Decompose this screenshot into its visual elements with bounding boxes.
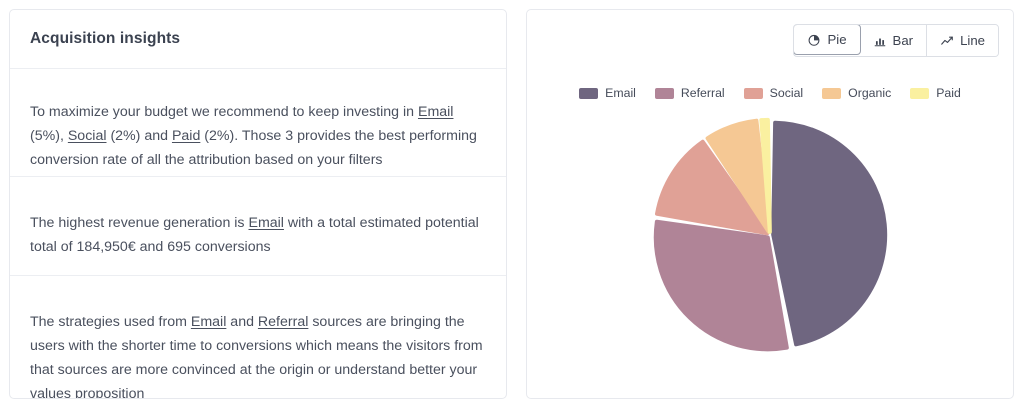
bar-chart-icon bbox=[873, 34, 887, 48]
insight-text: The highest revenue generation is Email … bbox=[30, 211, 486, 259]
legend-swatch bbox=[910, 88, 929, 99]
insight-source-link[interactable]: Social bbox=[68, 128, 107, 144]
chart-type-label: Pie bbox=[827, 32, 846, 47]
insight-source-link[interactable]: Email bbox=[191, 314, 226, 330]
legend-swatch bbox=[579, 88, 598, 99]
insight-text-fragment: (5%), bbox=[30, 128, 68, 144]
insight-text-fragment: (2%) and bbox=[107, 128, 172, 144]
insight-text-fragment: To maximize your budget we recommend to … bbox=[30, 104, 418, 120]
legend-label: Paid bbox=[936, 86, 961, 100]
legend-swatch bbox=[655, 88, 674, 99]
legend-item-organic[interactable]: Organic bbox=[822, 86, 891, 100]
insight-text-fragment: The highest revenue generation is bbox=[30, 215, 248, 231]
pie-slice-referral[interactable] bbox=[656, 222, 787, 350]
pie-slice-email[interactable] bbox=[773, 123, 885, 345]
chart-type-toolbar[interactable]: Pie Bar Line bbox=[793, 24, 999, 57]
insight-text: To maximize your budget we recommend to … bbox=[30, 100, 486, 172]
insights-card-header: Acquisition insights bbox=[10, 10, 506, 69]
insight-row-time-to-conversion: The strategies used from Email and Refer… bbox=[10, 276, 506, 399]
line-chart-icon bbox=[940, 34, 954, 48]
pie-chart-icon bbox=[807, 33, 821, 47]
legend-label: Social bbox=[770, 86, 804, 100]
legend-swatch bbox=[744, 88, 763, 99]
pie-chart bbox=[527, 110, 1013, 399]
legend-label: Email bbox=[605, 86, 636, 100]
insight-text-fragment: and bbox=[226, 314, 258, 330]
legend-item-social[interactable]: Social bbox=[744, 86, 804, 100]
insight-text-fragment: The strategies used from bbox=[30, 314, 191, 330]
chart-legend: Email Referral Social Organic Paid bbox=[527, 86, 1013, 100]
chart-type-button-bar[interactable]: Bar bbox=[860, 25, 928, 56]
chart-type-label: Bar bbox=[893, 33, 914, 48]
legend-item-paid[interactable]: Paid bbox=[910, 86, 961, 100]
insight-text: The strategies used from Email and Refer… bbox=[30, 310, 486, 399]
insight-source-link[interactable]: Email bbox=[418, 104, 453, 120]
insight-row-revenue-generation: The highest revenue generation is Email … bbox=[10, 177, 506, 276]
legend-swatch bbox=[822, 88, 841, 99]
acquisition-chart-card: Pie Bar Line Email Referral Social Organ… bbox=[526, 9, 1014, 399]
legend-item-referral[interactable]: Referral bbox=[655, 86, 725, 100]
legend-label: Organic bbox=[848, 86, 891, 100]
insight-source-link[interactable]: Paid bbox=[172, 128, 200, 144]
insight-source-link[interactable]: Referral bbox=[258, 314, 308, 330]
chart-type-button-line[interactable]: Line bbox=[927, 25, 998, 56]
insight-row-budget-recommendation: To maximize your budget we recommend to … bbox=[10, 69, 506, 177]
insight-source-link[interactable]: Email bbox=[248, 215, 283, 231]
chart-type-button-pie[interactable]: Pie bbox=[793, 24, 860, 55]
chart-type-label: Line bbox=[960, 33, 985, 48]
dashboard-root: Acquisition insights To maximize your bu… bbox=[0, 0, 1024, 408]
acquisition-insights-card: Acquisition insights To maximize your bu… bbox=[9, 9, 507, 399]
page-title: Acquisition insights bbox=[30, 30, 180, 48]
legend-item-email[interactable]: Email bbox=[579, 86, 636, 100]
legend-label: Referral bbox=[681, 86, 725, 100]
pie-chart-svg[interactable] bbox=[620, 110, 920, 360]
